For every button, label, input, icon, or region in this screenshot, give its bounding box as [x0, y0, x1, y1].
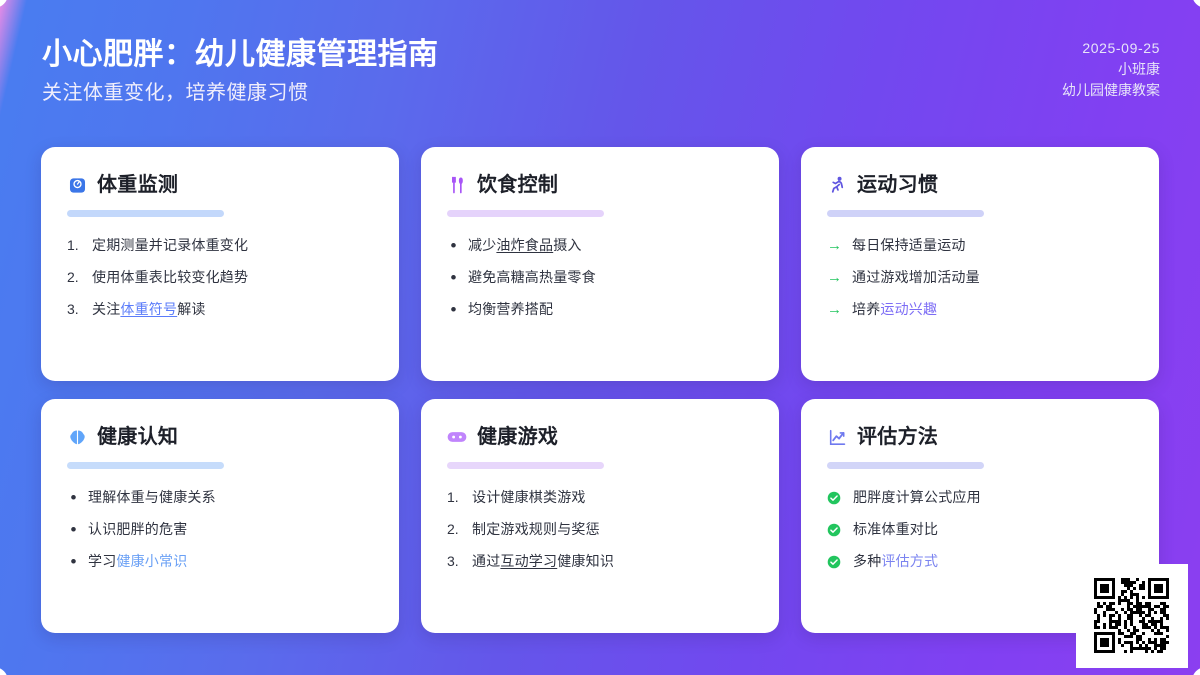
- header-date: 2025-09-25: [1082, 38, 1160, 59]
- list-item[interactable]: →通过游戏增加活动量: [827, 267, 1133, 289]
- list-item[interactable]: •学习健康小常识: [67, 551, 373, 573]
- list-item-text-plain: 通过: [472, 553, 500, 569]
- list-marker-arrow: →: [827, 267, 844, 288]
- list-item-label: 减少油炸食品摄入: [468, 235, 582, 256]
- card-title: 评估方法: [857, 424, 938, 450]
- list-marker-bullet: •: [67, 551, 80, 572]
- card-title: 健康认知: [97, 424, 178, 450]
- slide-header: 小心肥胖：幼儿健康管理指南 关注体重变化，培养健康习惯 2025-09-25 小…: [0, 0, 1200, 128]
- list-item-text-plain: 学习: [88, 553, 116, 569]
- card-item-list: →每日保持适量运动→通过游戏增加活动量→培养运动兴趣: [827, 235, 1133, 321]
- list-item[interactable]: •避免高糖高热量零食: [447, 267, 753, 289]
- list-item-label: 多种评估方式: [853, 551, 938, 572]
- list-item-text-highlight[interactable]: 油炸食品: [496, 237, 553, 253]
- card-header: 评估方法: [827, 423, 1133, 451]
- check-circle-icon: [827, 551, 845, 572]
- check-circle-icon: [827, 487, 845, 508]
- card-accent-bar: [447, 210, 604, 217]
- running-person-icon: [827, 175, 847, 195]
- list-item-text-highlight[interactable]: 健康小常识: [116, 553, 187, 569]
- list-item[interactable]: •减少油炸食品摄入: [447, 235, 753, 257]
- list-item-text-plain: 均衡营养搭配: [468, 301, 553, 317]
- list-item[interactable]: 3.关注体重符号解读: [67, 299, 373, 321]
- check-circle-icon: [827, 519, 845, 540]
- list-marker-number: 3.: [67, 299, 84, 320]
- brain-icon: [67, 427, 87, 447]
- card-item-list: 1.定期测量并记录体重变化2.使用体重表比较变化趋势3.关注体重符号解读: [67, 235, 373, 321]
- info-card[interactable]: 饮食控制•减少油炸食品摄入•避免高糖高热量零食•均衡营养搭配: [421, 147, 779, 381]
- card-accent-bar: [827, 210, 984, 217]
- card-header: 运动习惯: [827, 171, 1133, 199]
- list-marker-number: 2.: [447, 519, 464, 540]
- list-marker-bullet: •: [447, 267, 460, 288]
- header-meta-group: 2025-09-25 小班康 幼儿园健康教案: [1062, 34, 1160, 101]
- list-marker-arrow: →: [827, 299, 844, 320]
- card-header: 健康游戏: [447, 423, 753, 451]
- list-item[interactable]: •理解体重与健康关系: [67, 487, 373, 509]
- list-item-label: 均衡营养搭配: [468, 299, 553, 320]
- gamepad-icon: [447, 427, 467, 447]
- list-item[interactable]: 1.定期测量并记录体重变化: [67, 235, 373, 257]
- list-item[interactable]: 肥胖度计算公式应用: [827, 487, 1133, 509]
- list-marker-number: 3.: [447, 551, 464, 572]
- chart-line-icon: [827, 427, 847, 447]
- card-title: 体重监测: [97, 172, 178, 198]
- card-title: 运动习惯: [857, 172, 938, 198]
- list-item[interactable]: •认识肥胖的危害: [67, 519, 373, 541]
- card-grid: 体重监测1.定期测量并记录体重变化2.使用体重表比较变化趋势3.关注体重符号解读…: [41, 147, 1159, 633]
- list-marker-number: 1.: [447, 487, 464, 508]
- card-title: 饮食控制: [477, 172, 558, 198]
- list-marker-bullet: •: [67, 519, 80, 540]
- list-item-text-plain: 定期测量并记录体重变化: [92, 237, 248, 253]
- list-item-text-plain: 每日保持适量运动: [852, 237, 966, 253]
- list-item-label: 每日保持适量运动: [852, 235, 966, 256]
- page-subtitle: 关注体重变化，培养健康习惯: [42, 78, 439, 108]
- list-item-text-plain: 培养: [852, 301, 880, 317]
- list-item-label: 制定游戏规则与奖惩: [472, 519, 600, 540]
- list-marker-number: 1.: [67, 235, 84, 256]
- card-header: 体重监测: [67, 171, 373, 199]
- header-title-group: 小心肥胖：幼儿健康管理指南 关注体重变化，培养健康习惯: [42, 34, 439, 108]
- qr-code-image: [1088, 572, 1176, 660]
- list-item-text-plain: 使用体重表比较变化趋势: [92, 269, 248, 285]
- list-item-text-plain: 避免高糖高热量零食: [468, 269, 596, 285]
- list-item-text-plain: 肥胖度计算公式应用: [853, 489, 981, 505]
- qr-code[interactable]: [1076, 564, 1188, 668]
- card-header: 饮食控制: [447, 171, 753, 199]
- card-item-list: 肥胖度计算公式应用标准体重对比多种评估方式: [827, 487, 1133, 573]
- card-item-list: •减少油炸食品摄入•避免高糖高热量零食•均衡营养搭配: [447, 235, 753, 321]
- header-class-name: 小班康: [1118, 59, 1160, 80]
- list-item-text-plain: 减少: [468, 237, 496, 253]
- list-item-label: 通过互动学习健康知识: [472, 551, 614, 572]
- list-item-text-plain-tail: 解读: [177, 301, 205, 317]
- list-item[interactable]: 1.设计健康棋类游戏: [447, 487, 753, 509]
- slide-canvas: 小心肥胖：幼儿健康管理指南 关注体重变化，培养健康习惯 2025-09-25 小…: [0, 0, 1200, 675]
- list-item-label: 设计健康棋类游戏: [472, 487, 586, 508]
- list-item-text-plain-tail: 健康知识: [557, 553, 614, 569]
- fork-knife-icon: [447, 175, 467, 195]
- card-item-list: 1.设计健康棋类游戏2.制定游戏规则与奖惩3.通过互动学习健康知识: [447, 487, 753, 573]
- list-marker-bullet: •: [447, 299, 460, 320]
- weight-scale-icon: [67, 175, 87, 195]
- list-item-text-plain: 通过游戏增加活动量: [852, 269, 980, 285]
- list-item-text-highlight[interactable]: 互动学习: [500, 553, 557, 569]
- card-accent-bar: [67, 210, 224, 217]
- card-header: 健康认知: [67, 423, 373, 451]
- list-item-text-plain: 制定游戏规则与奖惩: [472, 521, 600, 537]
- corner-mask-bottom-left: [0, 667, 8, 675]
- list-marker-number: 2.: [67, 267, 84, 288]
- card-accent-bar: [827, 462, 984, 469]
- list-item-label: 避免高糖高热量零食: [468, 267, 596, 288]
- list-item-label: 通过游戏增加活动量: [852, 267, 980, 288]
- info-card[interactable]: 运动习惯→每日保持适量运动→通过游戏增加活动量→培养运动兴趣: [801, 147, 1159, 381]
- list-item[interactable]: →每日保持适量运动: [827, 235, 1133, 257]
- list-item-label: 定期测量并记录体重变化: [92, 235, 248, 256]
- list-item[interactable]: →培养运动兴趣: [827, 299, 1133, 321]
- card-title: 健康游戏: [477, 424, 558, 450]
- list-item-text-plain: 多种: [853, 553, 881, 569]
- list-item[interactable]: •均衡营养搭配: [447, 299, 753, 321]
- list-item-label: 标准体重对比: [853, 519, 938, 540]
- list-item-label: 关注体重符号解读: [92, 299, 206, 320]
- list-item[interactable]: 标准体重对比: [827, 519, 1133, 541]
- list-item-text-plain: 标准体重对比: [853, 521, 938, 537]
- list-item[interactable]: 2.使用体重表比较变化趋势: [67, 267, 373, 289]
- card-item-list: •理解体重与健康关系•认识肥胖的危害•学习健康小常识: [67, 487, 373, 573]
- list-item-label: 培养运动兴趣: [852, 299, 937, 320]
- list-item-label: 认识肥胖的危害: [88, 519, 187, 540]
- info-card[interactable]: 健康认知•理解体重与健康关系•认识肥胖的危害•学习健康小常识: [41, 399, 399, 633]
- header-doc-type: 幼儿园健康教案: [1062, 80, 1160, 101]
- list-item-text-highlight[interactable]: 运动兴趣: [880, 301, 937, 317]
- card-accent-bar: [447, 462, 604, 469]
- list-item-label: 肥胖度计算公式应用: [853, 487, 981, 508]
- info-card[interactable]: 健康游戏1.设计健康棋类游戏2.制定游戏规则与奖惩3.通过互动学习健康知识: [421, 399, 779, 633]
- list-item-text-plain: 认识肥胖的危害: [88, 521, 187, 537]
- list-marker-arrow: →: [827, 235, 844, 256]
- corner-mask-bottom-right: [1192, 667, 1200, 675]
- list-marker-bullet: •: [67, 487, 80, 508]
- list-item-text-plain: 理解体重与健康关系: [88, 489, 216, 505]
- list-item-label: 学习健康小常识: [88, 551, 187, 572]
- list-marker-bullet: •: [447, 235, 460, 256]
- list-item-text-highlight[interactable]: 评估方式: [881, 553, 938, 569]
- list-item-label: 使用体重表比较变化趋势: [92, 267, 248, 288]
- page-title: 小心肥胖：幼儿健康管理指南: [42, 34, 439, 76]
- info-card[interactable]: 体重监测1.定期测量并记录体重变化2.使用体重表比较变化趋势3.关注体重符号解读: [41, 147, 399, 381]
- list-item-text-plain: 设计健康棋类游戏: [472, 489, 586, 505]
- list-item[interactable]: 3.通过互动学习健康知识: [447, 551, 753, 573]
- list-item-text-highlight[interactable]: 体重符号: [120, 301, 177, 317]
- list-item-label: 理解体重与健康关系: [88, 487, 216, 508]
- list-item[interactable]: 2.制定游戏规则与奖惩: [447, 519, 753, 541]
- card-accent-bar: [67, 462, 224, 469]
- list-item-text-plain-tail: 摄入: [553, 237, 581, 253]
- list-item-text-plain: 关注: [92, 301, 120, 317]
